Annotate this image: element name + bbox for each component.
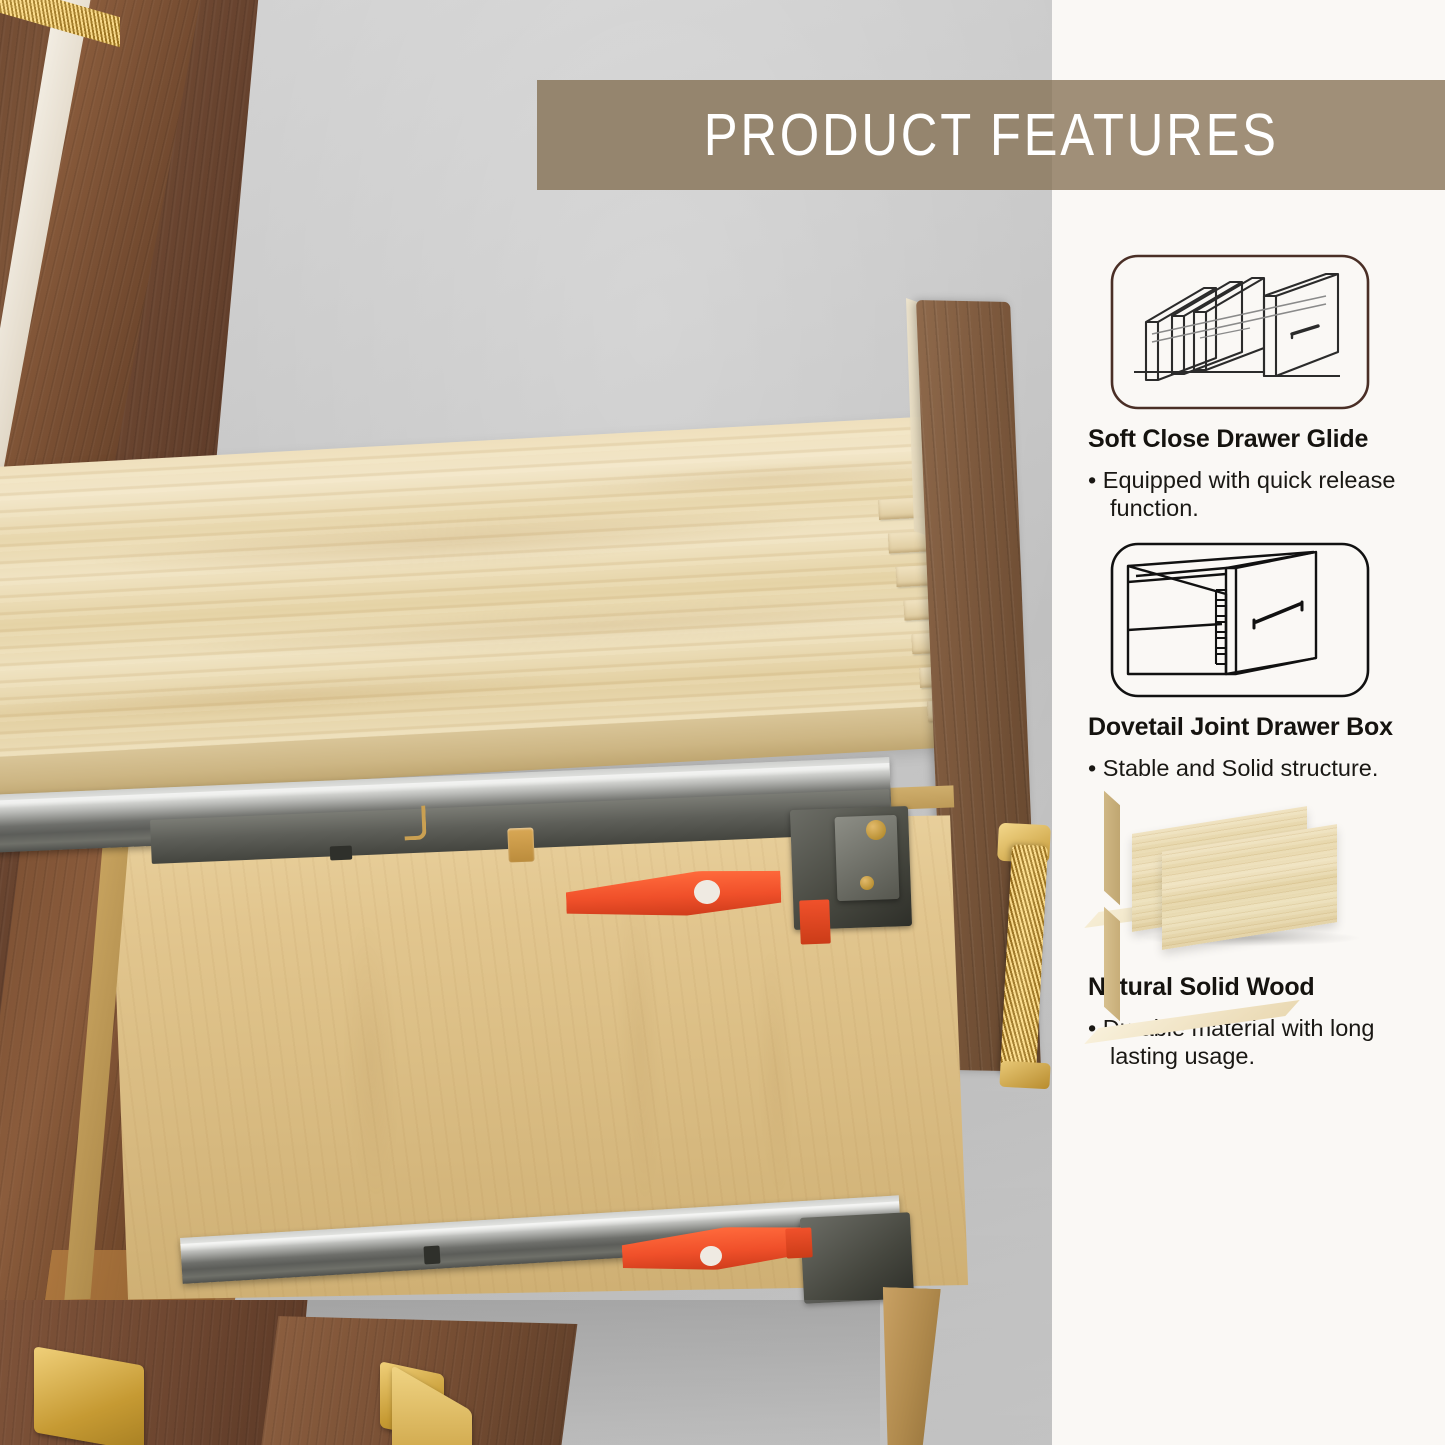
dovetail-drawer-box-icon: [1104, 538, 1394, 703]
brass-handle-foot: [999, 1061, 1050, 1090]
page-title-bar: PRODUCT FEATURES: [537, 80, 1445, 190]
screw-icon: [860, 876, 874, 890]
feature-title: Soft Close Drawer Glide: [1088, 425, 1415, 454]
lever-clip-top: [799, 899, 831, 944]
feature-description-text: Equipped with quick release function.: [1103, 467, 1396, 521]
slide-notch: [423, 1246, 440, 1265]
bullet-marker: •: [1088, 755, 1096, 781]
feature-description: • Equipped with quick release function.: [1088, 466, 1415, 522]
feature-description: • Stable and Solid structure.: [1088, 754, 1415, 782]
product-features-infographic: PRODUCT FEATURES: [0, 0, 1445, 1445]
brass-tab: [507, 827, 534, 862]
plank-back-side-face: [1104, 791, 1120, 905]
wood-planks-graphic: [1104, 798, 1394, 963]
product-photo: [0, 0, 1052, 1445]
feature-item-soft-close: Soft Close Drawer Glide • Equipped with …: [1052, 250, 1445, 522]
bullet-marker: •: [1088, 467, 1096, 493]
feature-title: Natural Solid Wood: [1088, 973, 1415, 1002]
brass-hook: [403, 806, 426, 841]
slide-notch: [330, 846, 353, 861]
plank-front-side-face: [1104, 907, 1120, 1021]
lever-clip-bottom: [785, 1227, 813, 1258]
drawer-glide-icon: [1104, 250, 1394, 415]
feature-list: Soft Close Drawer Glide • Equipped with …: [1052, 250, 1445, 1086]
wood-planks-icon: [1104, 798, 1394, 963]
feature-item-solid-wood: Natural Solid Wood • Durable material wi…: [1052, 798, 1445, 1070]
page-title: PRODUCT FEATURES: [704, 101, 1279, 169]
feature-item-dovetail: Dovetail Joint Drawer Box • Stable and S…: [1052, 538, 1445, 782]
feature-description-text: Stable and Solid structure.: [1103, 755, 1379, 781]
feature-title: Dovetail Joint Drawer Box: [1088, 713, 1415, 742]
